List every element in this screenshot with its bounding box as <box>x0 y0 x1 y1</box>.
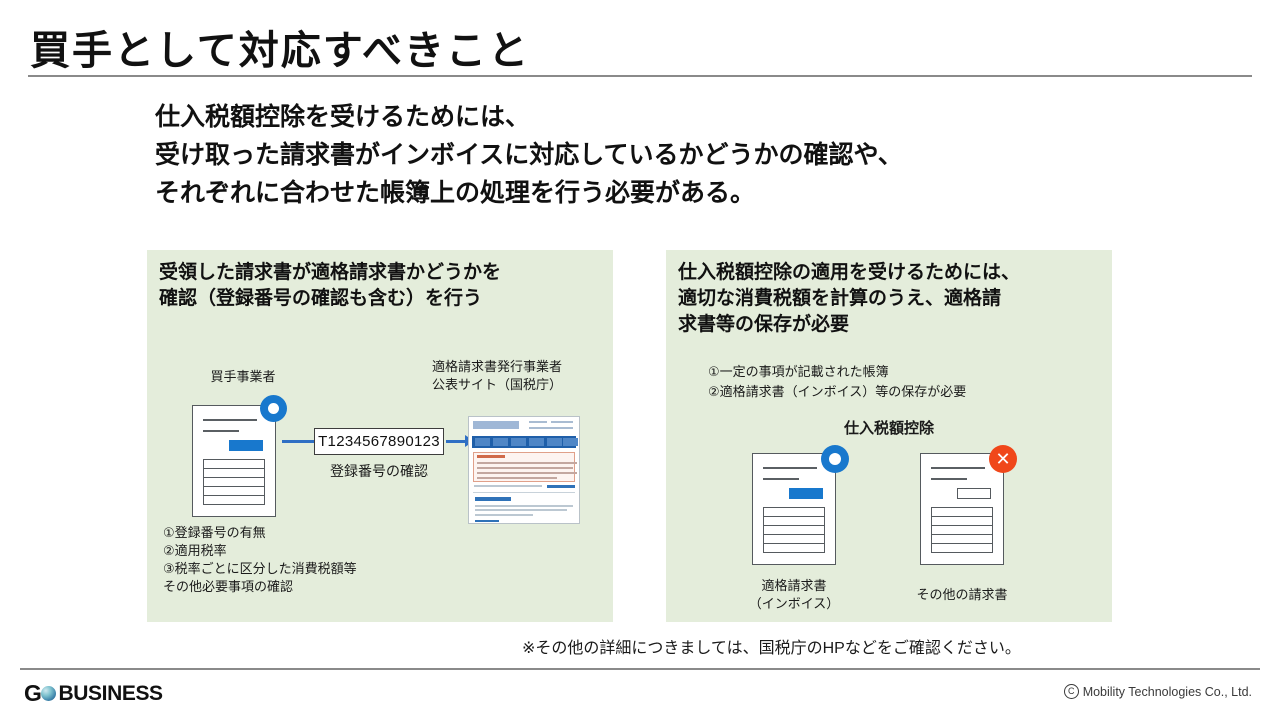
panel-right-heading-line-1: 仕入税額控除の適用を受けるためには、 <box>678 260 1104 286</box>
panel-right-heading: 仕入税額控除の適用を受けるためには、 適切な消費税額を計算のうえ、適格請 求書等… <box>678 260 1104 338</box>
not-qualified-cross-icon: ✕ <box>989 445 1017 473</box>
panel-invoice-check: 受領した請求書が適格請求書かどうかを 確認（登録番号の確認も含む）を行う 買手事… <box>147 250 613 622</box>
check-item-1: ①登録番号の有無 <box>163 524 266 542</box>
check-item-4: その他必要事項の確認 <box>163 578 293 596</box>
other-invoice-document-icon <box>920 453 1004 565</box>
copyright-text: Mobility Technologies Co., Ltd. <box>1083 685 1252 699</box>
title-divider <box>28 75 1252 77</box>
check-item-3: ③税率ごとに区分した消費税額等 <box>163 560 357 578</box>
arrow-doc-to-number <box>282 440 314 443</box>
panel-deduction-requirements: 仕入税額控除の適用を受けるためには、 適切な消費税額を計算のうえ、適格請 求書等… <box>666 250 1112 622</box>
copyright: C Mobility Technologies Co., Ltd. <box>1064 684 1252 699</box>
lead-line-3: それぞれに合わせた帳簿上の処理を行う必要がある。 <box>155 174 1155 212</box>
registration-number-caption: 登録番号の確認 <box>314 462 444 480</box>
logo-sphere-icon <box>41 686 56 701</box>
go-business-logo: G BUSINESS <box>24 680 163 707</box>
logo-letter-g: G <box>24 680 42 707</box>
page-title: 買手として対応すべきこと <box>30 18 530 76</box>
lead-paragraph: 仕入税額控除を受けるためには、 受け取った請求書がインボイスに対応しているかどう… <box>155 98 1155 212</box>
qualified-check-icon <box>260 395 287 422</box>
lead-line-1: 仕入税額控除を受けるためには、 <box>155 98 1155 136</box>
deduction-label: 仕入税額控除 <box>779 420 999 438</box>
panel-right-heading-line-2: 適切な消費税額を計算のうえ、適格請 <box>678 286 1104 312</box>
copyright-icon: C <box>1064 684 1079 699</box>
buyer-label: 買手事業者 <box>183 368 303 386</box>
panel-right-heading-line-3: 求書等の保存が必要 <box>678 312 1104 338</box>
logo-wordmark: BUSINESS <box>59 682 163 706</box>
footnote: ※その他の詳細につきましては、国税庁のHPなどをご確認ください。 <box>522 634 1021 658</box>
footer-divider <box>20 668 1260 670</box>
requirement-item-2: ②適格請求書（インボイス）等の保存が必要 <box>708 383 966 401</box>
panel-left-heading-line-1: 受領した請求書が適格請求書かどうかを <box>159 260 605 286</box>
lead-line-2: 受け取った請求書がインボイスに対応しているかどうかの確認や、 <box>155 136 1155 174</box>
site-label-line-2: 公表サイト（国税庁） <box>432 376 562 394</box>
requirement-item-1: ①一定の事項が記載された帳簿 <box>708 363 889 381</box>
registration-number-box: T1234567890123 <box>314 428 444 455</box>
buyer-invoice-document-icon <box>192 405 276 517</box>
panel-left-heading-line-2: 確認（登録番号の確認も含む）を行う <box>159 286 605 312</box>
panel-left-heading: 受領した請求書が適格請求書かどうかを 確認（登録番号の確認も含む）を行う <box>159 260 605 312</box>
tax-agency-site-thumbnail <box>468 416 580 524</box>
other-invoice-label: その他の請求書 <box>912 586 1012 604</box>
check-item-2: ②適用税率 <box>163 542 227 560</box>
qualified-invoice-label-line-2: （インボイス） <box>744 595 844 613</box>
qualified-invoice-label-line-1: 適格請求書 <box>744 577 844 595</box>
arrow-number-to-site <box>446 440 466 443</box>
site-label-line-1: 適格請求書発行事業者 <box>432 358 562 376</box>
qualified-invoice-document-icon <box>752 453 836 565</box>
qualified-invoice-check-icon <box>821 445 849 473</box>
